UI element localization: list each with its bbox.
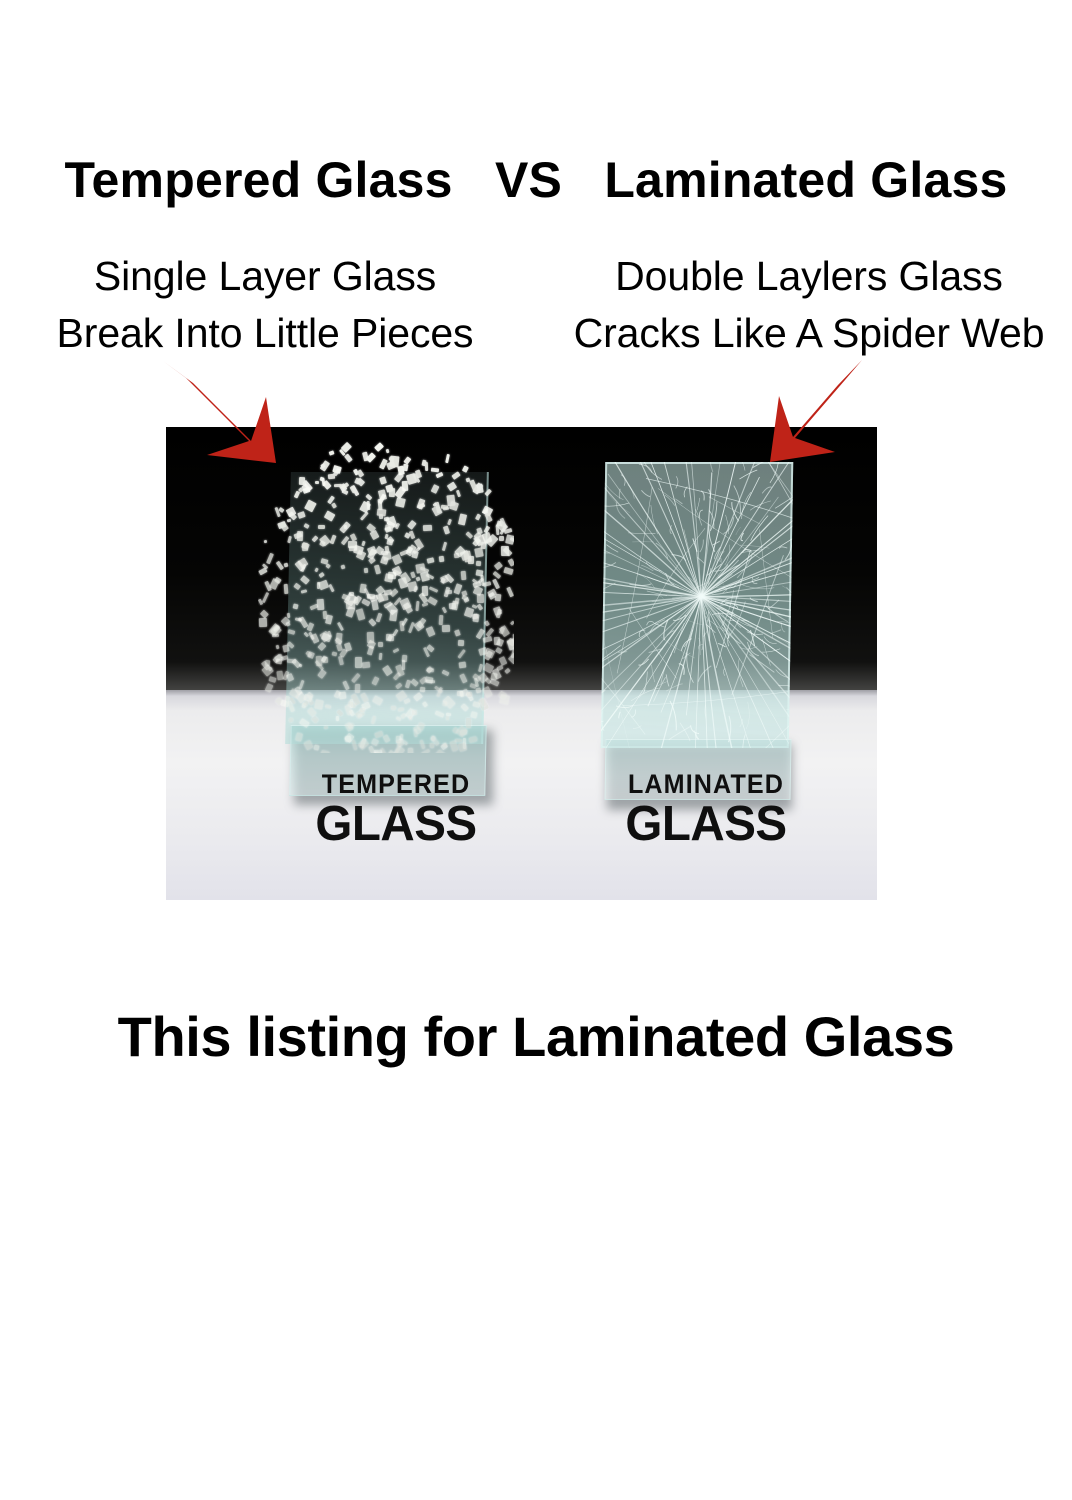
page-title: Tempered Glass VS Laminated Glass — [0, 151, 1072, 209]
laminated-description: Double Laylers Glass Cracks Like A Spide… — [546, 248, 1072, 362]
photo-caption-laminated-big: GLASS — [568, 800, 843, 849]
poster-canvas: Tempered Glass VS Laminated Glass Single… — [0, 0, 1072, 1500]
photo-caption-laminated: LAMINATED GLASS — [564, 771, 848, 849]
tempered-description-line-2: Break Into Little Pieces — [10, 305, 520, 362]
photo-caption-tempered-big: GLASS — [258, 800, 533, 849]
laminated-description-line-2: Cracks Like A Spider Web — [546, 305, 1072, 362]
photo-caption-tempered: TEMPERED GLASS — [254, 771, 538, 849]
photo-caption-laminated-small: LAMINATED — [574, 771, 838, 798]
tempered-description: Single Layer Glass Break Into Little Pie… — [10, 248, 520, 362]
listing-note: This listing for Laminated Glass — [0, 1004, 1072, 1070]
laminated-description-line-1: Double Laylers Glass — [546, 248, 1072, 305]
laminated-glass-spider-web-cracks — [601, 462, 794, 748]
tempered-description-line-1: Single Layer Glass — [10, 248, 520, 305]
photo-caption-tempered-small: TEMPERED — [264, 771, 528, 798]
tempered-glass-shards — [258, 441, 514, 753]
comparison-photo: TEMPERED GLASS LAMINATED GLASS — [166, 427, 877, 900]
comparison-descriptions: Single Layer Glass Break Into Little Pie… — [0, 248, 1072, 368]
